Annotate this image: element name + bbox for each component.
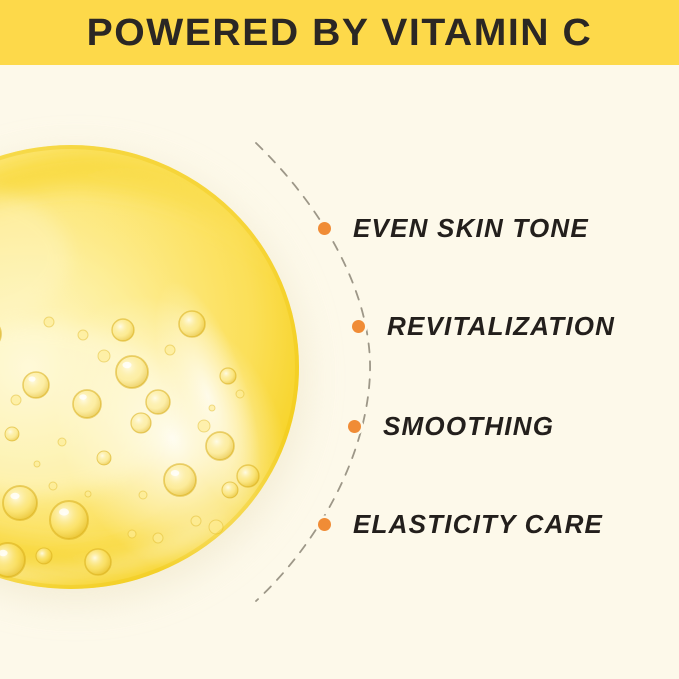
benefit-label: SMOOTHING	[383, 411, 554, 442]
bullet-dot-icon	[318, 222, 331, 235]
bullet-dot-icon	[352, 320, 365, 333]
vitamin-c-infographic: POWERED BY VITAMIN C	[0, 0, 679, 679]
benefit-label: EVEN SKIN TONE	[353, 213, 589, 244]
benefit-label: ELASTICITY CARE	[353, 509, 603, 540]
benefits-list: EVEN SKIN TONE REVITALIZATION SMOOTHING …	[0, 0, 679, 679]
benefit-item-elasticity-care[interactable]: ELASTICITY CARE	[318, 509, 603, 540]
benefit-label: REVITALIZATION	[387, 311, 615, 342]
benefit-item-revitalization[interactable]: REVITALIZATION	[352, 311, 615, 342]
bullet-dot-icon	[348, 420, 361, 433]
benefit-item-smoothing[interactable]: SMOOTHING	[348, 411, 554, 442]
benefit-item-even-skin-tone[interactable]: EVEN SKIN TONE	[318, 213, 589, 244]
bullet-dot-icon	[318, 518, 331, 531]
